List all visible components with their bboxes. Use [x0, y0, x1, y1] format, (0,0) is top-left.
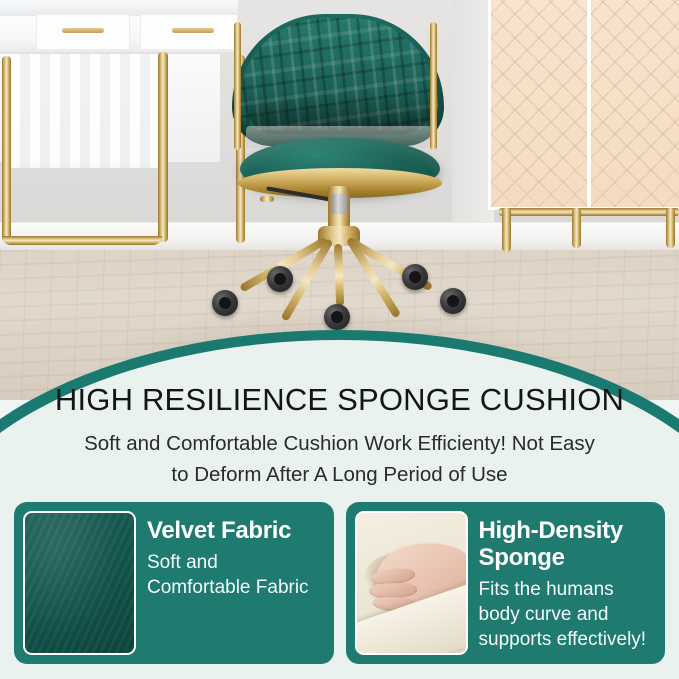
chair-caster	[212, 290, 238, 316]
office-chair	[190, 8, 490, 348]
feature-card-body: Soft and Comfortable Fabric	[147, 550, 325, 600]
feature-banner: HIGH RESILIENCE SPONGE CUSHION Soft and …	[0, 330, 679, 679]
subtitle-line-2: to Deform After A Long Period of Use	[40, 459, 639, 490]
desk-gold-leg	[158, 52, 168, 242]
base-spoke	[334, 244, 344, 306]
chair-caster	[402, 264, 428, 290]
chair-gold-arm-left	[234, 22, 241, 150]
feature-card-title: High-Density Sponge	[479, 517, 657, 571]
page-subtitle: Soft and Comfortable Cushion Work Effici…	[40, 428, 639, 490]
chair-caster	[440, 288, 466, 314]
desk-gold-leg	[2, 56, 11, 242]
curtain	[10, 52, 160, 168]
feature-card-high-density-sponge: High-Density Sponge Fits the humans body…	[346, 502, 666, 664]
feature-card-text: High-Density Sponge Fits the humans body…	[479, 511, 657, 655]
drawer-handle-icon	[62, 28, 104, 33]
feature-card-body: Fits the humans body curve and supports …	[479, 577, 657, 652]
cabinet-door	[591, 0, 679, 207]
velvet-fabric-swatch	[23, 511, 136, 655]
foam-press-photo	[355, 511, 468, 655]
feature-card-list: Velvet Fabric Soft and Comfortable Fabri…	[14, 502, 665, 664]
feature-card-text: Velvet Fabric Soft and Comfortable Fabri…	[147, 511, 325, 655]
chair-gold-arm-right	[430, 22, 437, 150]
cabinet-body	[488, 0, 679, 210]
cabinet-rail	[498, 208, 679, 216]
cabinet-leg	[572, 208, 581, 248]
desk-gold-stretcher	[2, 236, 162, 245]
cabinet-gold-legs	[498, 206, 679, 252]
page-title: HIGH RESILIENCE SPONGE CUSHION	[0, 382, 679, 418]
chair-caster	[324, 304, 350, 330]
feature-card-velvet-fabric: Velvet Fabric Soft and Comfortable Fabri…	[14, 502, 334, 664]
cabinet-leg	[502, 208, 511, 252]
chair-caster	[267, 266, 293, 292]
cabinet-door	[491, 0, 587, 207]
gas-lift-chrome	[331, 194, 347, 214]
cabinet-leg	[666, 208, 675, 248]
subtitle-line-1: Soft and Comfortable Cushion Work Effici…	[40, 428, 639, 459]
lever-knob[interactable]	[260, 196, 274, 202]
feature-card-title: Velvet Fabric	[147, 517, 325, 544]
product-feature-image: HIGH RESILIENCE SPONGE CUSHION Soft and …	[0, 0, 679, 679]
